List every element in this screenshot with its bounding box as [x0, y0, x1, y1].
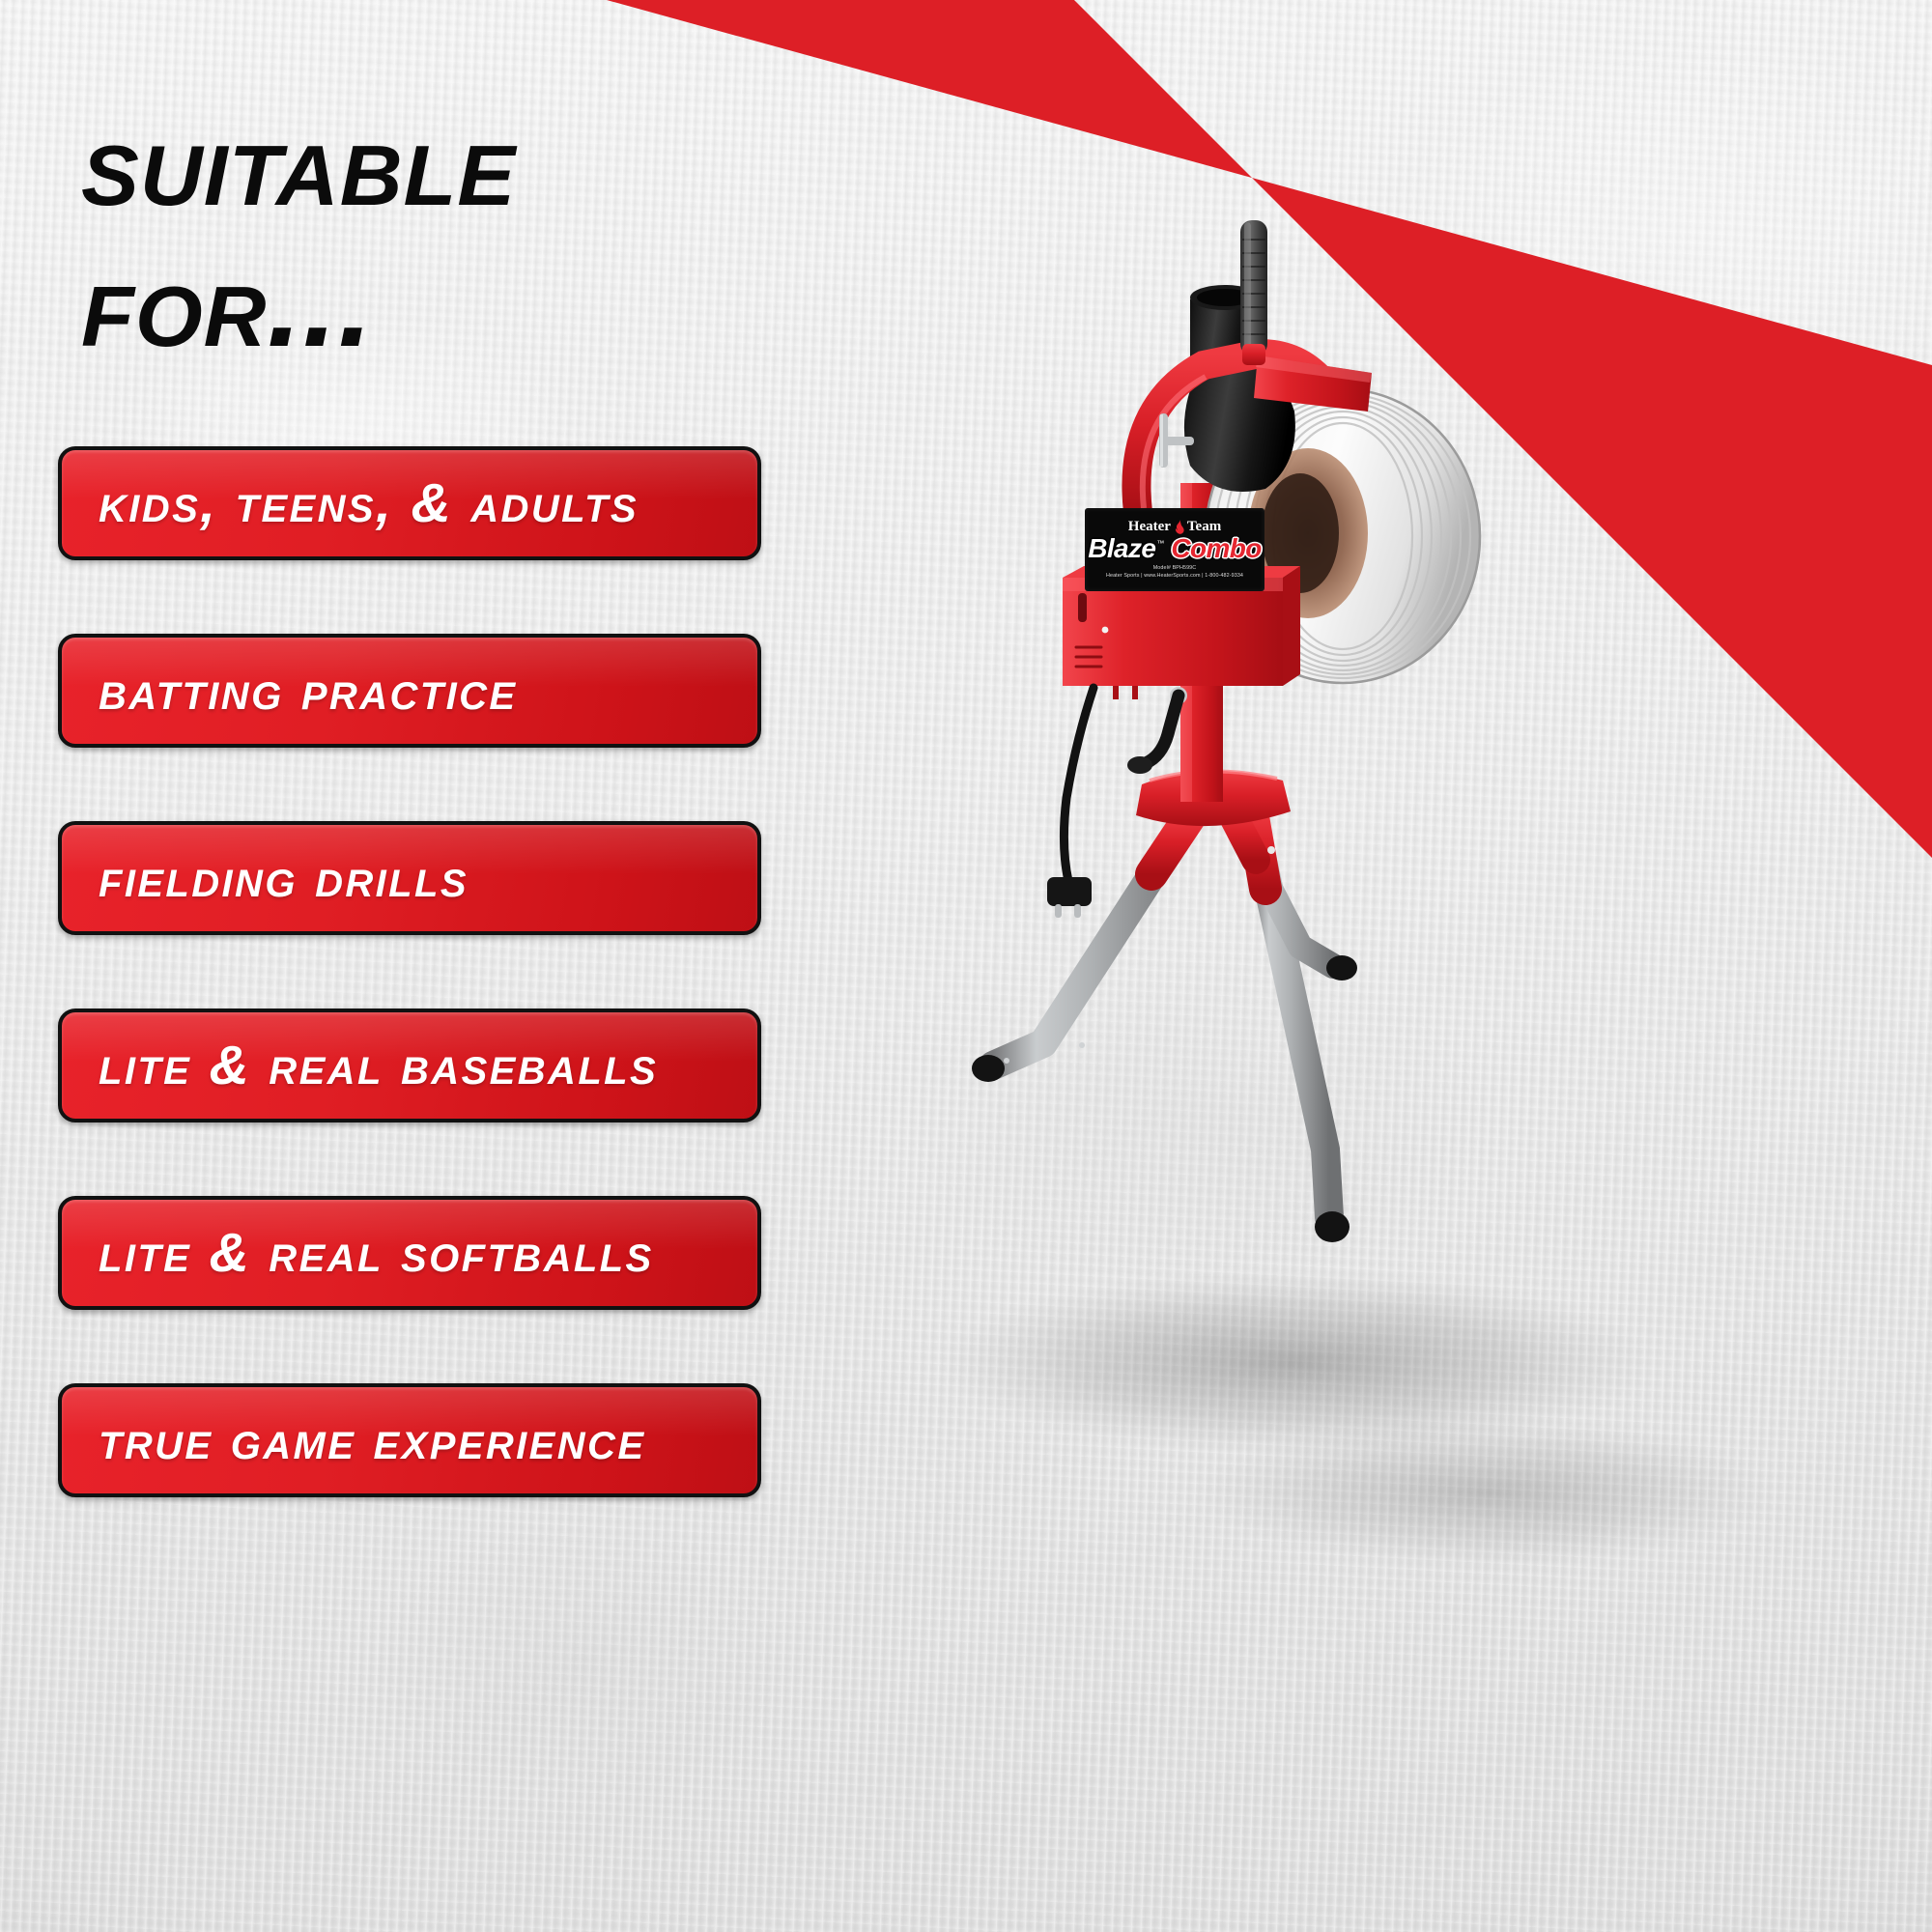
- brand-model-number: Model# BPH599C: [1153, 565, 1197, 573]
- feature-pill-fielding-drills[interactable]: Fielding Drills: [58, 821, 761, 935]
- brand-trademark-symbol: ™: [1156, 540, 1164, 548]
- flame-icon: [1174, 520, 1184, 534]
- feature-pill-label: True Game Experience: [62, 1413, 661, 1468]
- feature-pill-lite-real-softballs[interactable]: Lite & Real Softballs: [58, 1196, 761, 1310]
- feature-pill-true-game-experience[interactable]: True Game Experience: [58, 1383, 761, 1497]
- brand-maker-text: Heater: [1128, 520, 1171, 534]
- product-image-pitching-machine: [753, 193, 1932, 1932]
- brand-contact-line: Heater Sports | www.HeaterSports.com | 1…: [1106, 573, 1243, 581]
- brand-team-text: Team: [1187, 520, 1221, 534]
- headline-line-2: For...: [81, 234, 968, 375]
- product-brand-plate: Heater Team Blaze ™ Combo Model# BPH599C…: [1085, 508, 1264, 591]
- feature-pill-batting-practice[interactable]: Batting Practice: [58, 634, 761, 748]
- power-cord: [1047, 688, 1094, 918]
- tripod-foot-right: [1315, 1211, 1350, 1242]
- brand-product-row: Blaze ™ Combo: [1088, 535, 1262, 562]
- poster-canvas: Suitable For... Kids, Teens, & Adults Ba…: [0, 0, 1932, 1932]
- page-title: Suitable For...: [81, 93, 951, 375]
- feature-pill-label: Lite & Real Softballs: [62, 1226, 669, 1281]
- feature-pill-kids-teens-adults[interactable]: Kids, Teens, & Adults: [58, 446, 761, 560]
- tripod-foot-left: [972, 1055, 1005, 1082]
- feature-list: Kids, Teens, & Adults Batting Practice F…: [58, 446, 761, 1571]
- tripod-foot-rear: [1326, 955, 1357, 980]
- feature-pill-lite-real-baseballs[interactable]: Lite & Real Baseballs: [58, 1009, 761, 1122]
- top-grip-handle: [1240, 220, 1267, 365]
- feature-pill-label: Lite & Real Baseballs: [62, 1038, 673, 1094]
- brand-combo-text: Combo: [1171, 535, 1261, 562]
- feature-pill-label: Batting Practice: [62, 664, 532, 719]
- feature-pill-label: Fielding Drills: [62, 851, 484, 906]
- speed-adjust-crank: [1127, 687, 1187, 774]
- brand-maker-row: Heater Team: [1128, 520, 1221, 534]
- headline-line-1: Suitable: [81, 93, 968, 234]
- feature-pill-label: Kids, Teens, & Adults: [62, 476, 654, 531]
- product-drop-shadow: [937, 1269, 1777, 1568]
- brand-blaze-text: Blaze: [1088, 535, 1155, 562]
